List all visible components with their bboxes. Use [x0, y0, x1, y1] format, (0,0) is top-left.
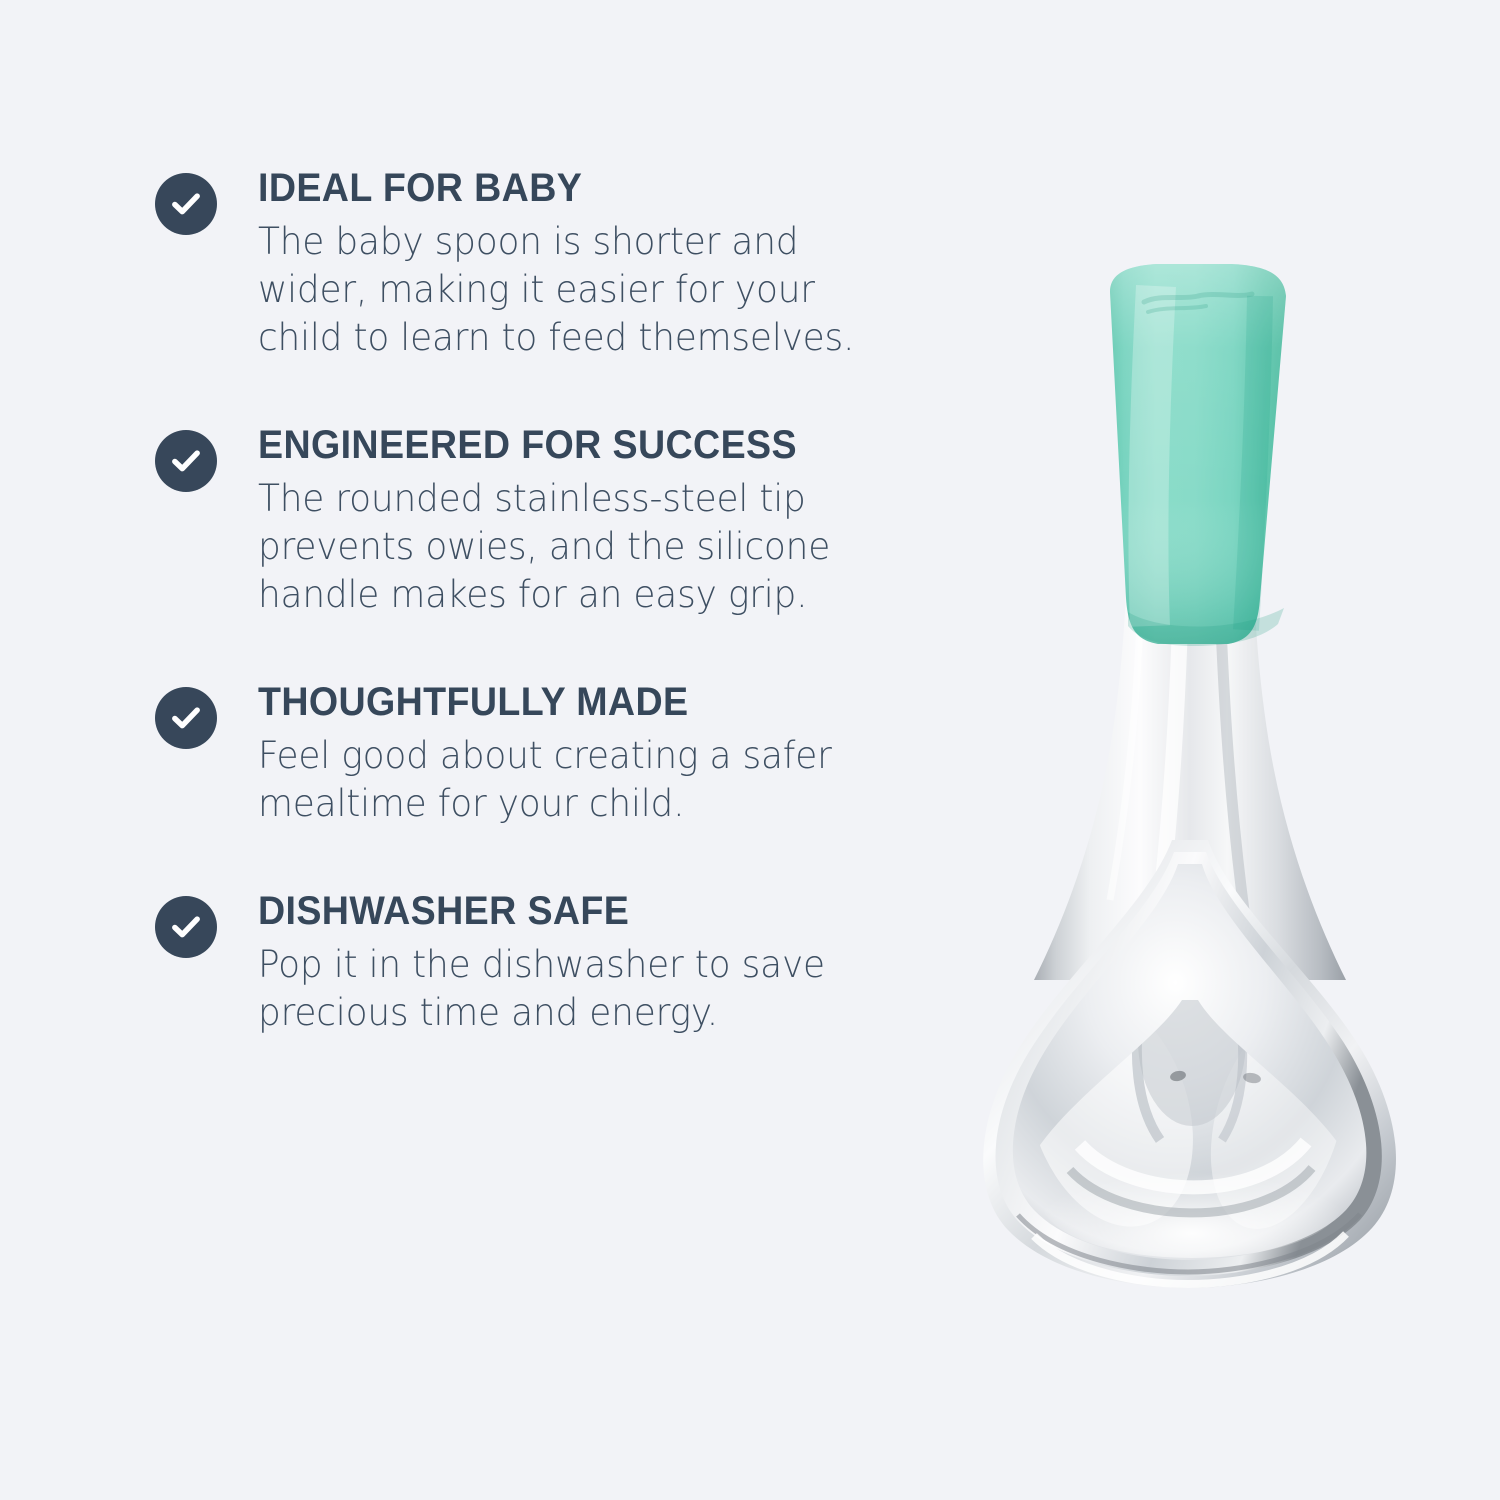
infographic-canvas: IDEAL FOR BABY The baby spoon is shorter… — [0, 0, 1500, 1500]
feature-body: Feel good about creating a safer mealtim… — [258, 732, 898, 828]
feature-title: ENGINEERED FOR SUCCESS — [258, 425, 894, 466]
feature-item-dishwasher-safe: DISHWASHER SAFE Pop it in the dishwasher… — [155, 891, 935, 1037]
feature-item-thoughtfully-made: THOUGHTFULLY MADE Feel good about creati… — [155, 682, 935, 828]
check-circle-icon — [155, 430, 217, 492]
check-circle-icon — [155, 173, 217, 235]
feature-list: IDEAL FOR BABY The baby spoon is shorter… — [155, 168, 935, 1037]
spoon-silicone-handle — [1110, 264, 1286, 646]
feature-title: THOUGHTFULLY MADE — [258, 682, 894, 723]
feature-item-engineered-for-success: ENGINEERED FOR SUCCESS The rounded stain… — [155, 425, 935, 619]
feature-body: The baby spoon is shorter and wider, mak… — [258, 218, 898, 362]
product-image-baby-spoon — [960, 240, 1420, 1300]
feature-item-ideal-for-baby: IDEAL FOR BABY The baby spoon is shorter… — [155, 168, 935, 362]
feature-body: Pop it in the dishwasher to save preciou… — [258, 941, 898, 1037]
feature-title: DISHWASHER SAFE — [258, 891, 894, 932]
check-circle-icon — [155, 896, 217, 958]
spoon-bowl — [983, 840, 1396, 1288]
check-circle-icon — [155, 687, 217, 749]
feature-title: IDEAL FOR BABY — [258, 168, 894, 209]
feature-body: The rounded stainless-steel tip prevents… — [258, 475, 898, 619]
